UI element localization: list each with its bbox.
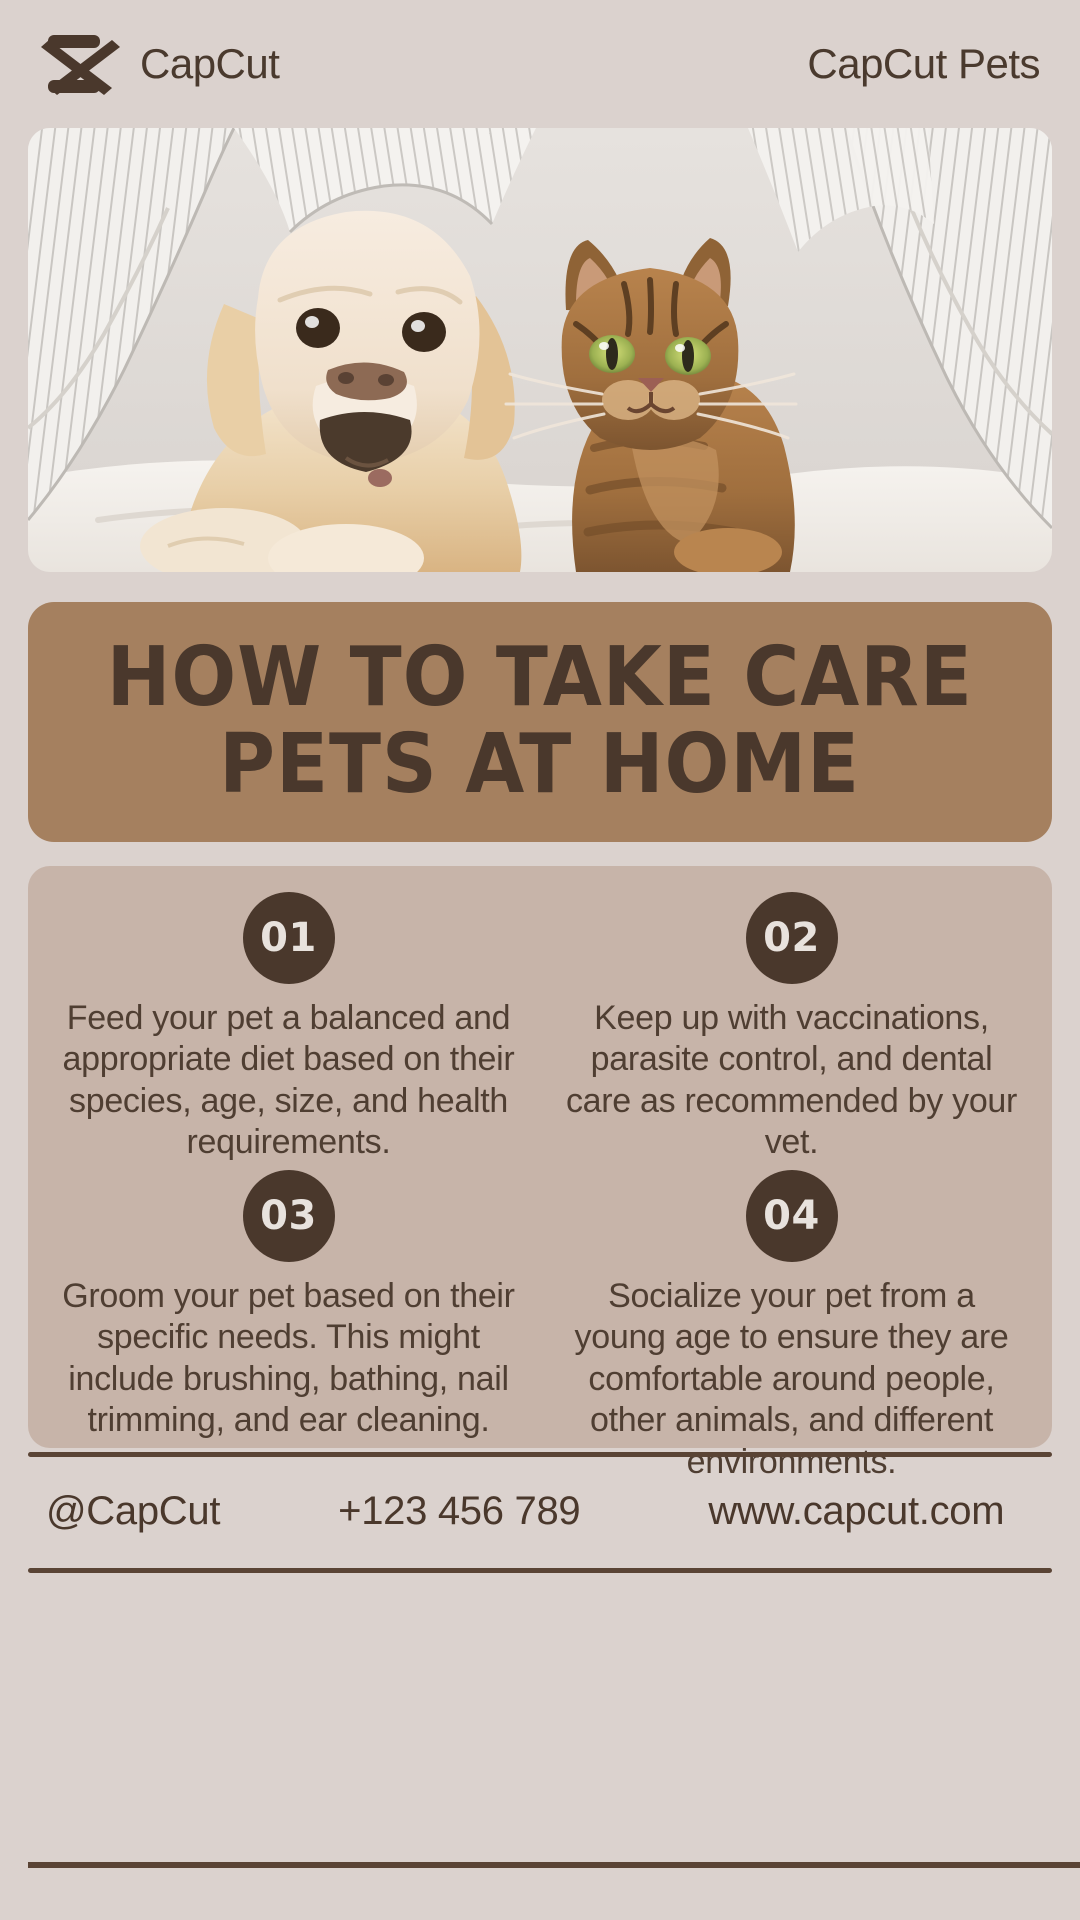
footer-divider-bottom bbox=[28, 1568, 1052, 1573]
page-header: CapCut CapCut Pets bbox=[0, 0, 1080, 128]
tip-text: Feed your pet a balanced and appropriate… bbox=[59, 998, 519, 1164]
tip-number-badge: 03 bbox=[243, 1170, 335, 1262]
tip-item-04: 04 Socialize your pet from a young age t… bbox=[549, 1170, 1034, 1483]
title-banner: HOW TO TAKE CARE PETS AT HOME bbox=[28, 602, 1052, 842]
tip-number-badge: 02 bbox=[746, 892, 838, 984]
brand-name: CapCut bbox=[140, 43, 279, 85]
title-line-2: PETS AT HOME bbox=[220, 722, 861, 809]
brand-lockup[interactable]: CapCut bbox=[40, 33, 279, 95]
footer-website-url[interactable]: www.capcut.com bbox=[708, 1489, 1004, 1534]
tip-item-02: 02 Keep up with vaccinations, parasite c… bbox=[549, 892, 1034, 1164]
title-line-1: HOW TO TAKE CARE bbox=[107, 635, 973, 722]
tip-item-01: 01 Feed your pet a balanced and appropri… bbox=[46, 892, 531, 1164]
footer-phone-number[interactable]: +123 456 789 bbox=[338, 1489, 580, 1534]
hero-photo bbox=[28, 128, 1052, 572]
header-right-label: CapCut Pets bbox=[807, 43, 1040, 85]
tips-card: 01 Feed your pet a balanced and appropri… bbox=[28, 866, 1052, 1448]
page-footer: @CapCut +123 456 789 www.capcut.com bbox=[28, 1457, 1052, 1565]
tip-text: Groom your pet based on their specific n… bbox=[59, 1276, 519, 1442]
footer-social-handle[interactable]: @CapCut bbox=[46, 1489, 220, 1534]
page-bottom-rule bbox=[28, 1862, 1080, 1868]
capcut-bowtie-logo-icon bbox=[40, 33, 120, 95]
tip-text: Keep up with vaccinations, parasite cont… bbox=[562, 998, 1022, 1164]
tip-item-03: 03 Groom your pet based on their specifi… bbox=[46, 1170, 531, 1483]
tip-number-badge: 01 bbox=[243, 892, 335, 984]
tip-number-badge: 04 bbox=[746, 1170, 838, 1262]
